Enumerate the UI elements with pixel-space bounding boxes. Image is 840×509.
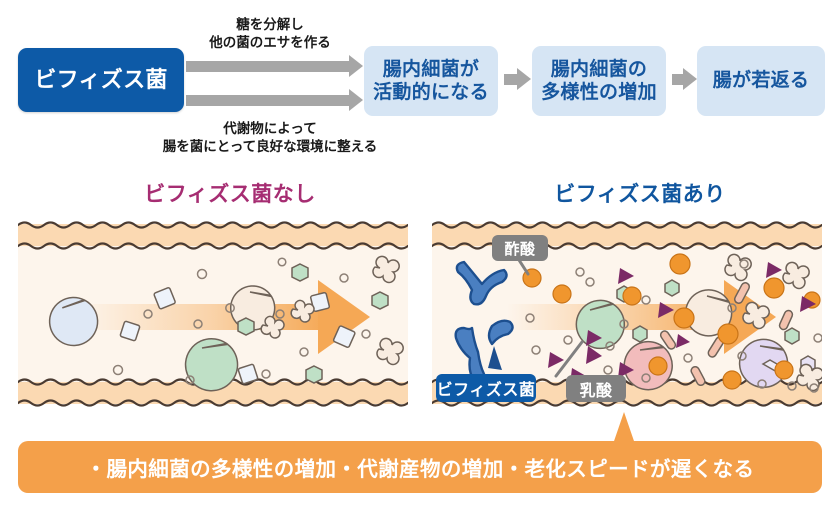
- banner-pointer-icon: [613, 412, 635, 444]
- flow-source-label: ビフィズス菌: [34, 67, 167, 94]
- flow-step-rejuvenation: 腸が若返る: [697, 46, 825, 116]
- section-heading-without-bifidobacteria: ビフィズス菌なし: [60, 178, 400, 208]
- flow-arrow-label-bottom: 代謝物によって 腸を菌にとって良好な環境に整える: [100, 120, 440, 156]
- summary-banner: ・腸内細菌の多様性の増加・代謝産物の増加・老化スピードが遅くなる: [18, 441, 822, 493]
- summary-banner-text: ・腸内細菌の多様性の増加・代謝産物の増加・老化スピードが遅くなる: [86, 452, 755, 482]
- flow-arrow-4-icon: [672, 74, 684, 85]
- flow-step-diversity-line1: 腸内細菌の: [541, 58, 657, 81]
- callout-bifidobacteria: ビフィズス菌: [436, 374, 536, 402]
- flow-source-bifidobacteria: ビフィズス菌: [18, 48, 184, 112]
- gut-illustration-without-bifidobacteria: [18, 218, 408, 410]
- callout-lactic-acid: 乳酸: [566, 375, 626, 402]
- flow-step-active-line1: 腸内細菌が: [373, 58, 489, 81]
- flow-arrow-1-icon: [186, 61, 350, 72]
- flow-arrow-3-icon: [504, 74, 518, 85]
- flow-step-active-line2: 活動的になる: [373, 81, 489, 104]
- section-heading-with-bifidobacteria: ビフィズス菌あり: [470, 178, 810, 208]
- process-flow: ビフィズス菌 糖を分解し 他の菌のエサを作る 代謝物によって 腸を菌にとって良好…: [0, 0, 840, 165]
- flow-step-rejuvenation-label: 腸が若返る: [713, 69, 810, 92]
- callout-acetic-acid: 酢酸: [492, 235, 548, 261]
- flow-arrow-label-top-line1: 糖を分解し: [130, 16, 410, 34]
- flow-step-diversity-line2: 多様性の増加: [541, 81, 657, 104]
- flow-step-active: 腸内細菌が 活動的になる: [364, 46, 498, 116]
- flow-step-diversity: 腸内細菌の 多様性の増加: [532, 46, 666, 116]
- flow-arrow-label-bottom-line1: 代謝物によって: [100, 120, 440, 138]
- flow-arrow-2-icon: [186, 95, 350, 106]
- flow-arrow-label-bottom-line2: 腸を菌にとって良好な環境に整える: [100, 138, 440, 156]
